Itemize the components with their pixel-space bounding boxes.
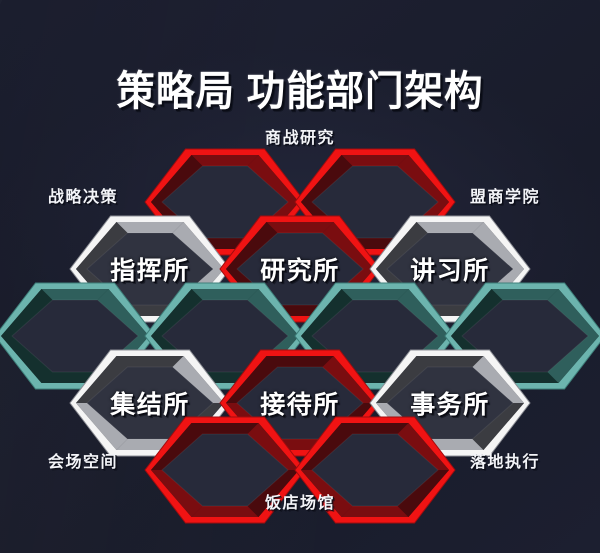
annotation-lower-right: 落地执行 [470, 448, 540, 472]
annotation-upper-right: 盟商学院 [470, 183, 540, 207]
annotation-bottom: 饭店场馆 [0, 489, 600, 513]
annotation-lower-left: 会场空间 [48, 448, 118, 472]
page-title: 策略局 功能部门架构 [18, 71, 582, 112]
annotation-upper-left: 战略决策 [48, 183, 118, 207]
infographic-canvas: 策略局 功能部门架构 指挥所研究所讲习所集结所接待所事务所 商战研究 战略决策 … [0, 0, 600, 553]
annotation-top: 商战研究 [0, 124, 600, 148]
